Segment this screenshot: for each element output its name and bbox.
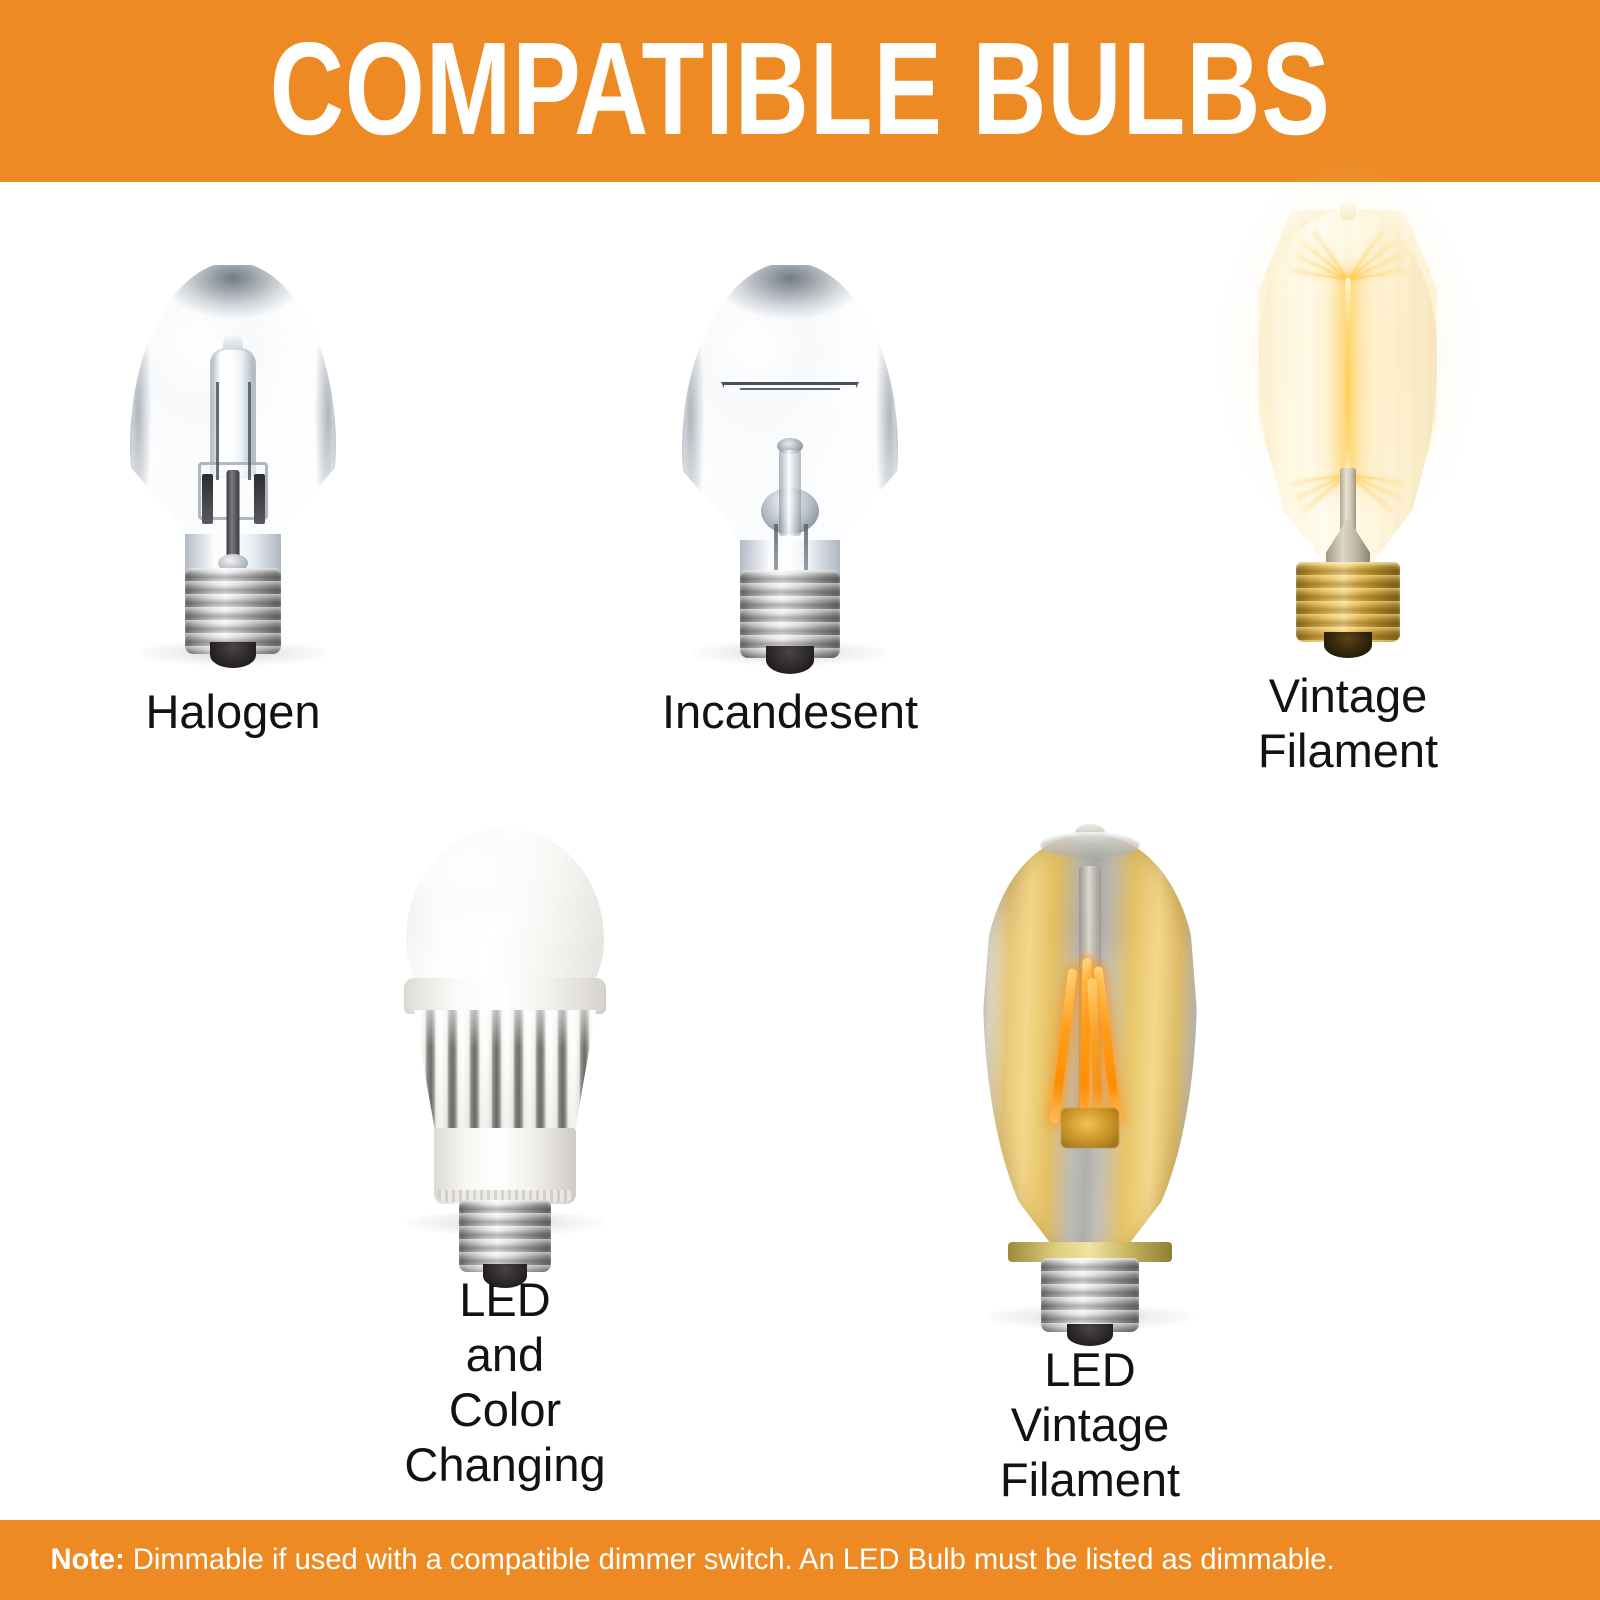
footer-note: Note: Dimmable if used with a compatible… xyxy=(0,1543,1335,1577)
bulb-card-halogen: Halogen xyxy=(116,262,350,739)
page-title: COMPATIBLE BULBS xyxy=(269,23,1330,155)
note-text: Dimmable if used with a compatible dimme… xyxy=(125,1543,1335,1576)
screw-base xyxy=(1041,1258,1139,1332)
bulb-card-led: LED and Color Changing xyxy=(385,828,625,1492)
footer-note-banner: Note: Dimmable if used with a compatible… xyxy=(0,1520,1600,1600)
vintage-filament-bulb-icon xyxy=(1253,200,1443,650)
led-vintage-filament-bulb-icon xyxy=(979,818,1201,1318)
bulb-label-vintage-filament: Vintage Filament xyxy=(1258,668,1438,778)
compatible-bulbs-infographic: COMPATIBLE BULBS Halogen xyxy=(0,0,1600,1600)
screw-base xyxy=(1296,562,1400,642)
incandescent-bulb-icon xyxy=(682,262,898,662)
halogen-bulb-icon xyxy=(130,262,336,662)
bulb-card-vintage-filament: Vintage Filament xyxy=(1248,200,1448,778)
bulb-card-incandescent: Incandesent xyxy=(672,262,908,739)
led-bulb-icon xyxy=(398,828,612,1228)
bulb-label-halogen: Halogen xyxy=(145,684,320,739)
screw-base xyxy=(740,570,840,658)
bulb-label-incandescent: Incandesent xyxy=(662,684,918,739)
screw-base xyxy=(459,1200,551,1272)
bulb-label-led: LED and Color Changing xyxy=(385,1272,625,1492)
header-banner: COMPATIBLE BULBS xyxy=(0,0,1600,182)
bulb-card-led-vintage-filament: LED Vintage Filament xyxy=(960,818,1220,1507)
bulb-label-led-vintage-filament: LED Vintage Filament xyxy=(960,1342,1220,1507)
note-label: Note: xyxy=(50,1543,124,1576)
